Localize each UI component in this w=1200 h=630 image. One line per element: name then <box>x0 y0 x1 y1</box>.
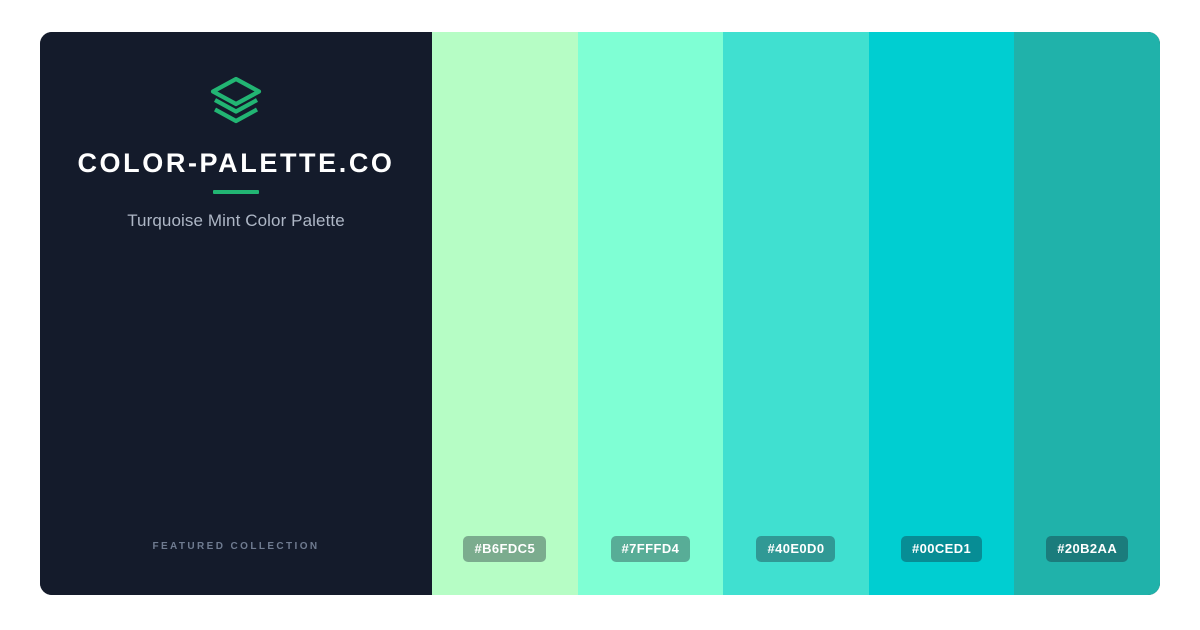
swatch-5[interactable]: #20B2AA <box>1014 32 1160 595</box>
swatch-4[interactable]: #00CED1 <box>869 32 1015 595</box>
swatch-hex-badge: #40E0D0 <box>756 536 835 562</box>
swatch-1[interactable]: #B6FDC5 <box>432 32 578 595</box>
swatch-hex-badge: #20B2AA <box>1046 536 1128 562</box>
swatch-hex-badge: #7FFFD4 <box>611 536 691 562</box>
title-accent-rule <box>213 190 259 194</box>
layers-icon <box>208 72 264 128</box>
palette-card: COLOR-PALETTE.CO Turquoise Mint Color Pa… <box>40 32 1160 595</box>
swatch-list: #B6FDC5 #7FFFD4 #40E0D0 #00CED1 #20B2AA <box>432 32 1160 595</box>
swatch-hex-badge: #B6FDC5 <box>463 536 546 562</box>
page-title: COLOR-PALETTE.CO <box>77 150 394 177</box>
palette-subtitle: Turquoise Mint Color Palette <box>127 211 345 231</box>
swatch-3[interactable]: #40E0D0 <box>723 32 869 595</box>
swatch-hex-badge: #00CED1 <box>901 536 982 562</box>
swatch-2[interactable]: #7FFFD4 <box>578 32 724 595</box>
brand-panel: COLOR-PALETTE.CO Turquoise Mint Color Pa… <box>40 32 432 595</box>
featured-collection-label: FEATURED COLLECTION <box>40 541 432 552</box>
